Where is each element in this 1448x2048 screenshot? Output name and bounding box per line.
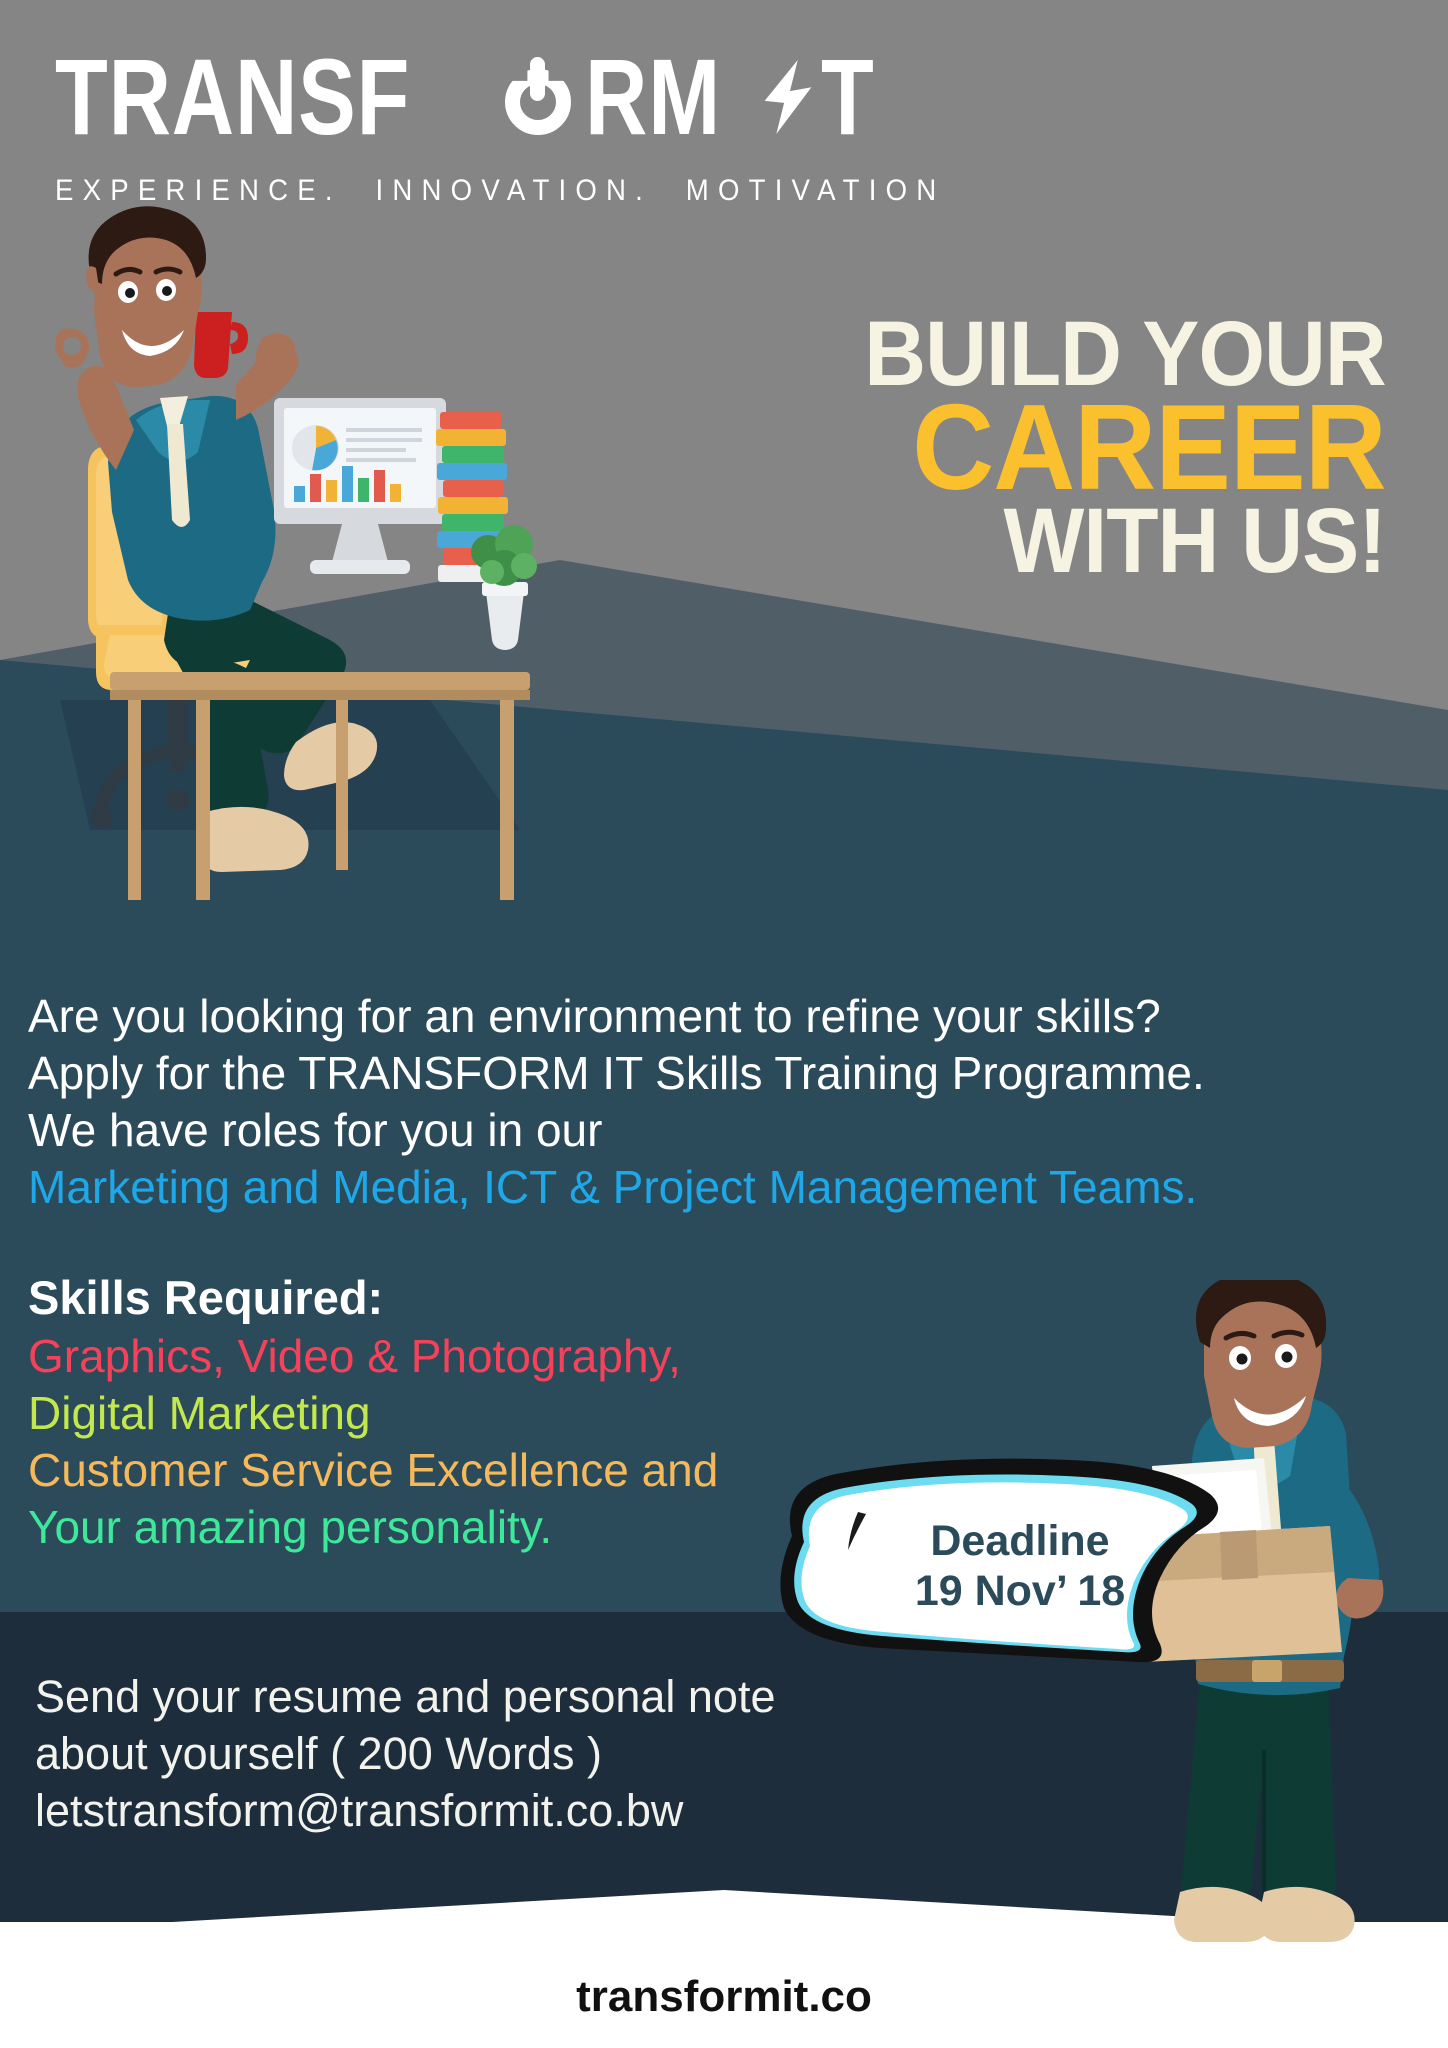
headline-block: BUILD YOUR CAREER WITH US!	[825, 312, 1386, 583]
deadline-label: Deadline	[870, 1516, 1170, 1566]
contact-email[interactable]: letstransform@transformit.co.bw	[35, 1782, 775, 1839]
skill-item-digital-marketing: Digital Marketing	[28, 1385, 1028, 1442]
body-line-3: We have roles for you in our	[28, 1102, 1128, 1159]
contact-block: Send your resume and personal note about…	[35, 1668, 775, 1839]
logo-wordmark-row: TRANSF RM T	[55, 42, 1023, 152]
skills-heading: Skills Required:	[28, 1268, 1028, 1328]
logo-text-part2: RM	[585, 43, 721, 151]
power-bar-shape	[530, 57, 545, 101]
body-line-1: Are you looking for an environment to re…	[28, 988, 1128, 1045]
brand-logo: TRANSF RM T EXPERIENCE. INNOVATION. MOTI…	[55, 42, 1023, 208]
skill-item-graphics: Graphics, Video & Photography,	[28, 1328, 1028, 1385]
deadline-speech-bubble: Deadline 19 Nov’ 18	[740, 1438, 1230, 1688]
contact-line-1: Send your resume and personal note	[35, 1668, 775, 1725]
headline-line-2: CAREER	[864, 391, 1386, 503]
power-icon	[499, 49, 583, 145]
deadline-text: Deadline 19 Nov’ 18	[870, 1516, 1170, 1616]
poster-canvas: TRANSF RM T EXPERIENCE. INNOVATION. MOTI…	[0, 0, 1448, 2048]
lightning-bolt-icon	[757, 58, 819, 136]
logo-text-part1: TRANSF	[55, 43, 410, 151]
deadline-date: 19 Nov’ 18	[870, 1566, 1170, 1616]
body-copy-block: Are you looking for an environment to re…	[28, 988, 1128, 1216]
brand-tagline: EXPERIENCE. INNOVATION. MOTIVATION	[55, 174, 945, 208]
body-line-4-highlight: Marketing and Media, ICT & Project Manag…	[28, 1159, 1128, 1216]
footer-url[interactable]: transformit.co	[0, 1972, 1448, 2022]
contact-line-2: about yourself ( 200 Words )	[35, 1725, 775, 1782]
body-line-2: Apply for the TRANSFORM IT Skills Traini…	[28, 1045, 1128, 1102]
headline-line-3: WITH US!	[864, 499, 1386, 584]
logo-text-part3: T	[821, 43, 875, 151]
